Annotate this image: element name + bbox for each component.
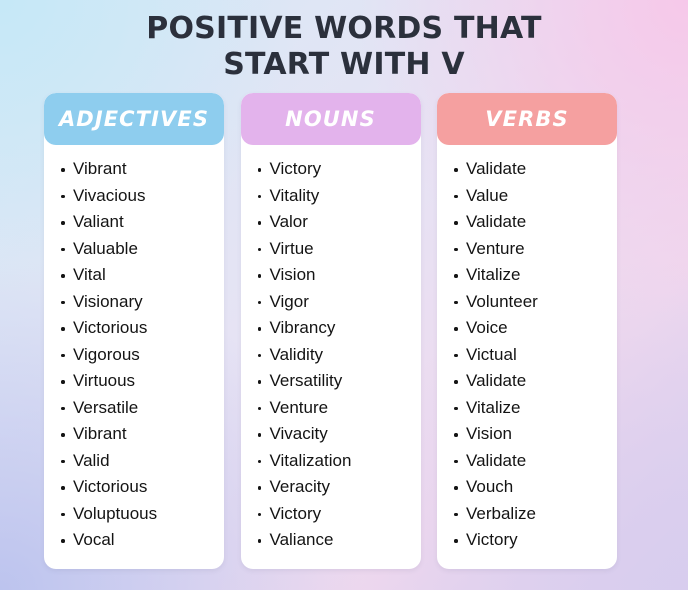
list-item: Validate	[453, 209, 617, 236]
page-title-line-1: POSITIVE WORDS THAT	[0, 11, 688, 47]
page-title-line-2: START WITH V	[0, 47, 688, 83]
list-item: Victorious	[60, 474, 224, 501]
column-header-label: VERBS	[485, 107, 568, 131]
column-header-adjectives: ADJECTIVES	[44, 93, 224, 145]
column-header-verbs: VERBS	[437, 93, 617, 145]
list-item: Vitalize	[453, 262, 617, 289]
list-item: Victory	[257, 156, 421, 183]
list-item: Vivacious	[60, 183, 224, 210]
column-card-verbs: VERBS Validate Value Validate Venture Vi…	[437, 93, 617, 569]
list-item: Versatile	[60, 395, 224, 422]
list-item: Vitalization	[257, 448, 421, 475]
list-item: Vigor	[257, 289, 421, 316]
list-item: Vision	[257, 262, 421, 289]
list-item: Vision	[453, 421, 617, 448]
list-item: Volunteer	[453, 289, 617, 316]
word-columns: ADJECTIVES Vibrant Vivacious Valiant Val…	[44, 93, 617, 569]
word-list-nouns: Victory Vitality Valor Virtue Vision Vig…	[241, 145, 421, 554]
list-item: Virtuous	[60, 368, 224, 395]
poster-canvas: POSITIVE WORDS THAT START WITH V ADJECTI…	[0, 0, 688, 590]
list-item: Vitalize	[453, 395, 617, 422]
list-item: Vocal	[60, 527, 224, 554]
column-card-nouns: NOUNS Victory Vitality Valor Virtue Visi…	[241, 93, 421, 569]
list-item: Validate	[453, 156, 617, 183]
list-item: Victory	[257, 501, 421, 528]
list-item: Validate	[453, 368, 617, 395]
list-item: Verbalize	[453, 501, 617, 528]
list-item: Valiant	[60, 209, 224, 236]
list-item: Vital	[60, 262, 224, 289]
list-item: Venture	[257, 395, 421, 422]
list-item: Vivacity	[257, 421, 421, 448]
page-title: POSITIVE WORDS THAT START WITH V	[0, 11, 688, 83]
list-item: Venture	[453, 236, 617, 263]
word-list-adjectives: Vibrant Vivacious Valiant Valuable Vital…	[44, 145, 224, 554]
word-list-verbs: Validate Value Validate Venture Vitalize…	[437, 145, 617, 554]
list-item: Veracity	[257, 474, 421, 501]
list-item: Visionary	[60, 289, 224, 316]
list-item: Victorious	[60, 315, 224, 342]
list-item: Valiance	[257, 527, 421, 554]
list-item: Vigorous	[60, 342, 224, 369]
list-item: Virtue	[257, 236, 421, 263]
column-card-adjectives: ADJECTIVES Vibrant Vivacious Valiant Val…	[44, 93, 224, 569]
list-item: Victory	[453, 527, 617, 554]
list-item: Validate	[453, 448, 617, 475]
list-item: Versatility	[257, 368, 421, 395]
column-header-label: NOUNS	[285, 107, 376, 131]
list-item: Vitality	[257, 183, 421, 210]
list-item: Vibrancy	[257, 315, 421, 342]
list-item: Voice	[453, 315, 617, 342]
list-item: Vibrant	[60, 421, 224, 448]
list-item: Value	[453, 183, 617, 210]
column-header-nouns: NOUNS	[241, 93, 421, 145]
list-item: Valor	[257, 209, 421, 236]
list-item: Validity	[257, 342, 421, 369]
list-item: Valid	[60, 448, 224, 475]
list-item: Victual	[453, 342, 617, 369]
list-item: Vibrant	[60, 156, 224, 183]
list-item: Vouch	[453, 474, 617, 501]
column-header-label: ADJECTIVES	[59, 107, 209, 131]
list-item: Valuable	[60, 236, 224, 263]
list-item: Voluptuous	[60, 501, 224, 528]
